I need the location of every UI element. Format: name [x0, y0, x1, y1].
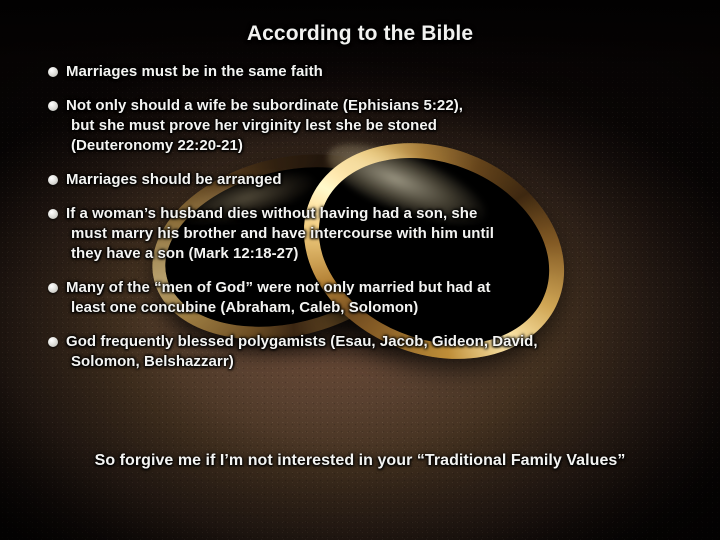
bullet-line: If a woman’s husband dies without having…: [66, 205, 477, 222]
meme-slide: According to the Bible Marriages must be…: [0, 0, 720, 540]
bullet-dot-icon: [48, 283, 58, 293]
bullet-line: Solomon, Belshazzarr): [66, 352, 648, 372]
bullet-line: but she must prove her virginity lest sh…: [66, 116, 648, 136]
bullet-text: Marriages must be in the same faith: [66, 62, 648, 82]
bullet-text: Marriages should be arranged: [66, 170, 648, 190]
bullet-text: Not only should a wife be subordinate (E…: [66, 96, 648, 156]
bullet-dot-icon: [48, 67, 58, 77]
bullet-line: must marry his brother and have intercou…: [66, 224, 648, 244]
bullet-text: Many of the “men of God” were not only m…: [66, 278, 648, 318]
bullet-line: they have a son (Mark 12:18-27): [66, 244, 648, 264]
bullet-line: Not only should a wife be subordinate (E…: [66, 97, 463, 114]
bullet-line: least one concubine (Abraham, Caleb, Sol…: [66, 298, 648, 318]
bullet-item-same-faith: Marriages must be in the same faith: [48, 62, 648, 82]
bullet-line: (Deuteronomy 22:20-21): [66, 136, 648, 156]
bullet-line: Marriages should be arranged: [66, 171, 282, 188]
bullet-text: If a woman’s husband dies without having…: [66, 204, 648, 264]
bullet-item-polygamists: God frequently blessed polygamists (Esau…: [48, 332, 648, 372]
bullet-line: Marriages must be in the same faith: [66, 63, 323, 80]
closing-statement: So forgive me if I’m not interested in y…: [0, 452, 720, 470]
bullet-dot-icon: [48, 209, 58, 219]
bullet-text: God frequently blessed polygamists (Esau…: [66, 332, 648, 372]
bullet-item-concubines: Many of the “men of God” were not only m…: [48, 278, 648, 318]
bullet-line: Many of the “men of God” were not only m…: [66, 279, 491, 296]
slide-title: According to the Bible: [0, 22, 720, 46]
bullet-dot-icon: [48, 101, 58, 111]
bullet-item-arranged-marriages: Marriages should be arranged: [48, 170, 648, 190]
bullet-dot-icon: [48, 175, 58, 185]
bullet-dot-icon: [48, 337, 58, 347]
slide-content: According to the Bible Marriages must be…: [0, 0, 720, 540]
bullet-item-wife-subordinate: Not only should a wife be subordinate (E…: [48, 96, 648, 156]
bullet-item-levirate-marriage: If a woman’s husband dies without having…: [48, 204, 648, 264]
bullet-list: Marriages must be in the same faith Not …: [48, 62, 648, 386]
bullet-line: God frequently blessed polygamists (Esau…: [66, 333, 538, 350]
